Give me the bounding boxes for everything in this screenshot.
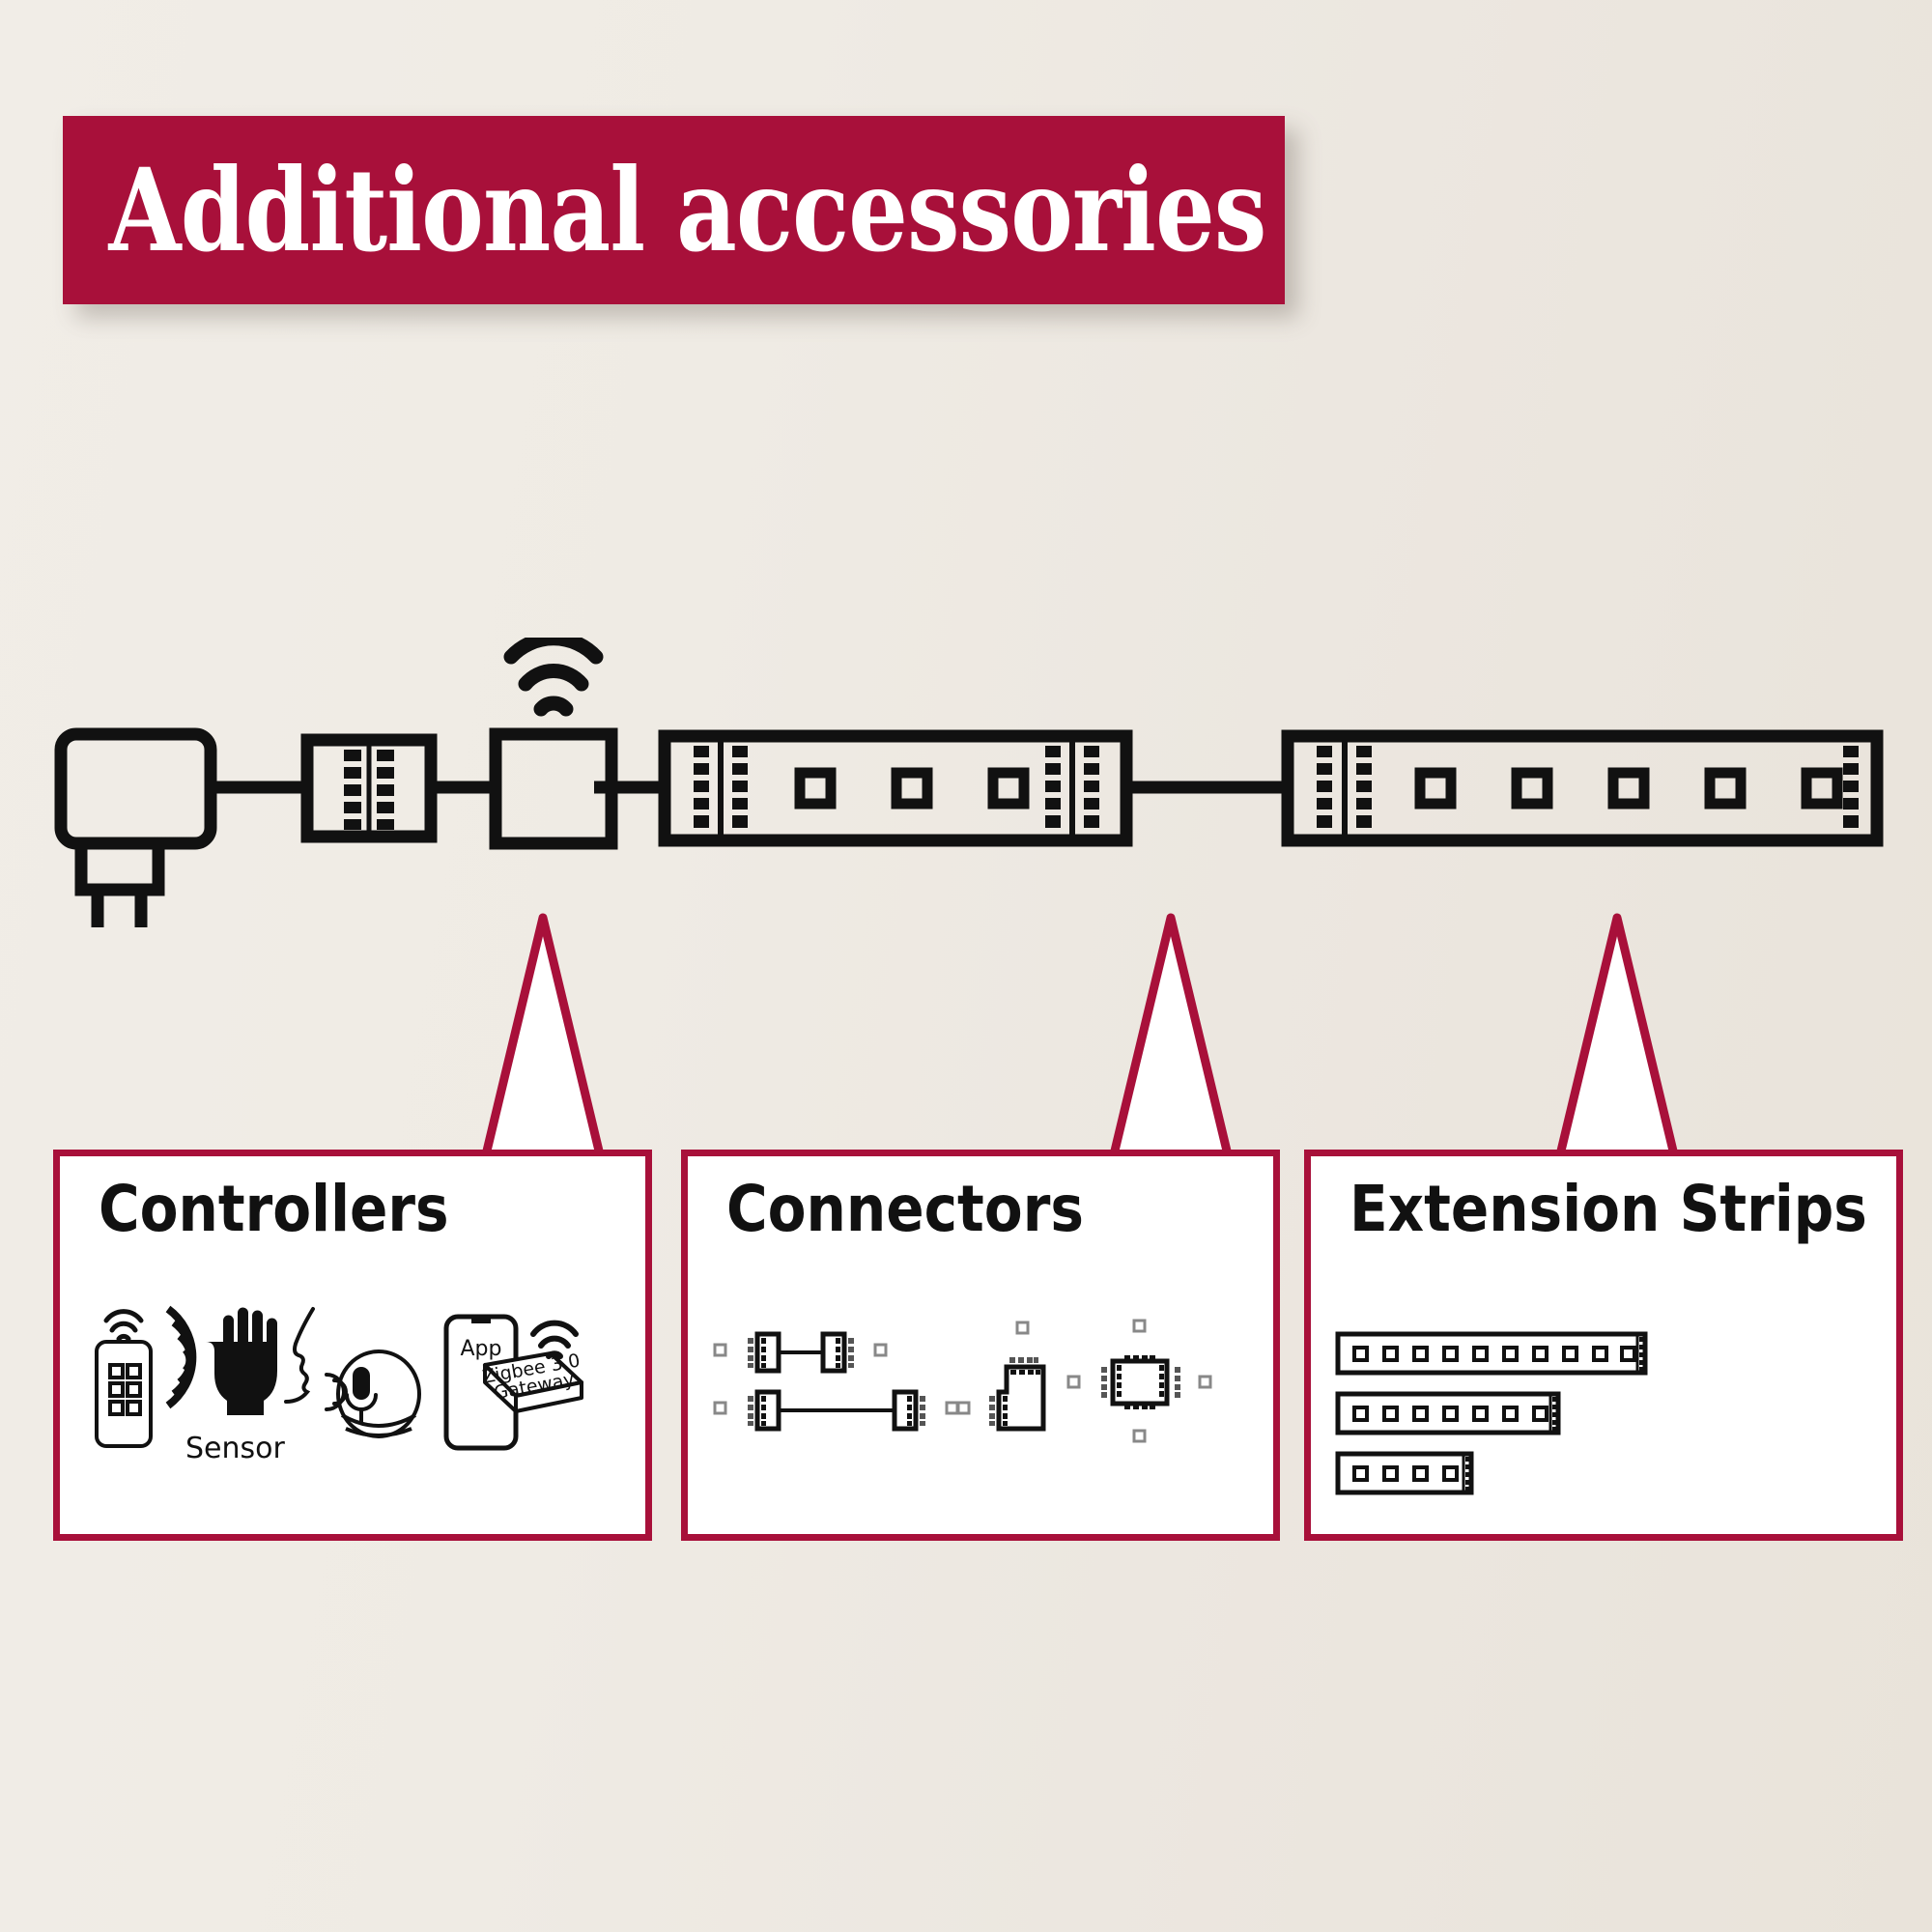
callout-pointers	[0, 898, 1932, 1169]
power-supply-icon	[61, 734, 211, 927]
voice-assistant-icon	[286, 1309, 313, 1402]
extension-strips-graphics	[1311, 1301, 1896, 1543]
page-title: Additional accessories	[63, 154, 1266, 268]
callout-pointer-extension	[1557, 918, 1677, 1167]
box-title-extension-strips: Extension Strips	[1350, 1178, 1867, 1241]
connectors-graphics	[688, 1301, 1273, 1543]
led-strip-icon-1	[665, 736, 1126, 840]
led-strip-icon-2	[1288, 736, 1877, 840]
callout-box-controllers[interactable]: Controllers	[53, 1150, 652, 1541]
extension-strip-medium-icon	[1338, 1394, 1558, 1433]
extension-strip-long-icon	[1338, 1334, 1645, 1373]
remote-control-icon	[97, 1342, 151, 1446]
callout-pointer-connectors	[1111, 918, 1231, 1167]
long-cable-connector-icon	[697, 1392, 978, 1429]
short-cable-connector-icon	[697, 1334, 908, 1371]
led-dot	[800, 773, 1024, 804]
hand-icon	[206, 1308, 277, 1416]
smart-speaker-icon	[338, 1351, 419, 1436]
motion-sensor-waves-icon	[168, 1309, 192, 1406]
led-system-chain-diagram	[0, 638, 1932, 927]
page-title-banner: Additional accessories	[63, 116, 1285, 304]
cross-x-connector-icon	[1051, 1305, 1231, 1460]
voice-waves-icon	[327, 1375, 346, 1409]
app-label: App	[461, 1337, 502, 1361]
callout-box-extension-strips[interactable]: Extension Strips	[1304, 1150, 1903, 1541]
callout-box-connectors[interactable]: Connectors	[681, 1150, 1280, 1541]
callout-pointer-controllers	[483, 918, 603, 1167]
extension-strip-short-icon	[1338, 1454, 1471, 1492]
microphone-icon	[353, 1367, 370, 1400]
wifi-icon	[511, 639, 596, 709]
controllers-graphics: Sensor	[60, 1301, 645, 1543]
remote-wifi-icon	[106, 1312, 141, 1339]
box-title-controllers: Controllers	[99, 1178, 449, 1241]
sensor-label: Sensor	[185, 1432, 285, 1465]
strip-connector-icon	[307, 740, 431, 837]
box-title-connectors: Connectors	[726, 1178, 1084, 1241]
led-dot	[1420, 773, 1837, 804]
